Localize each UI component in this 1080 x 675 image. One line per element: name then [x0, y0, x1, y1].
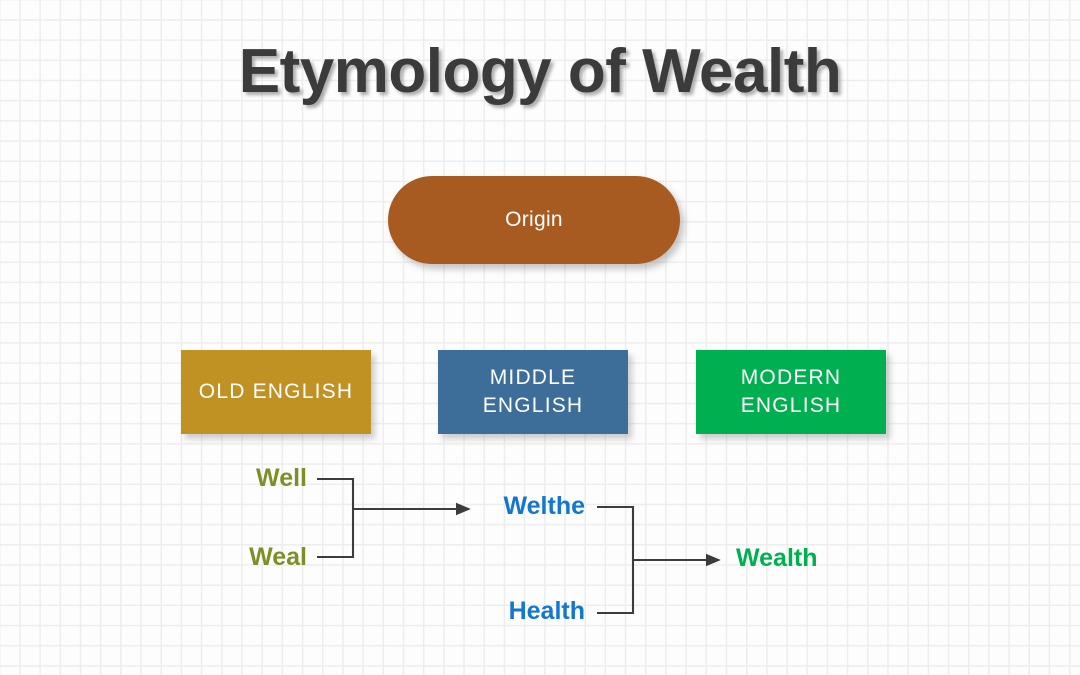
- bracket-middle-to-modern: [597, 507, 719, 613]
- word-label-wealth[interactable]: Wealth: [736, 544, 936, 573]
- slide-canvas: Etymology of Wealth Origin OLD ENGLISH M…: [0, 0, 1080, 675]
- word-label-weal[interactable]: Weal: [147, 543, 307, 572]
- stage-box-old-english-label: OLD ENGLISH: [191, 378, 361, 406]
- stage-box-modern-english[interactable]: MODERN ENGLISH: [696, 350, 886, 434]
- origin-node-label: Origin: [505, 208, 563, 232]
- stage-box-middle-english-label: MIDDLE ENGLISH: [438, 364, 628, 419]
- stage-box-modern-english-label: MODERN ENGLISH: [696, 364, 886, 419]
- origin-node[interactable]: Origin: [388, 176, 680, 264]
- word-label-health[interactable]: Health: [425, 597, 585, 626]
- word-label-welthe[interactable]: Welthe: [425, 492, 585, 521]
- page-title: Etymology of Wealth: [0, 36, 1080, 107]
- stage-box-middle-english[interactable]: MIDDLE ENGLISH: [438, 350, 628, 434]
- stage-box-old-english[interactable]: OLD ENGLISH: [181, 350, 371, 434]
- word-label-well[interactable]: Well: [147, 464, 307, 493]
